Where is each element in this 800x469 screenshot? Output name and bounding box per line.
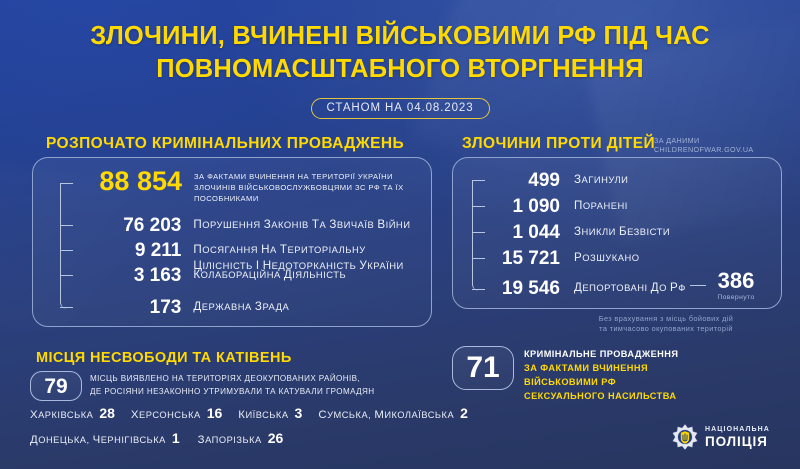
stat-row: 173 Державна зрада (76, 298, 416, 317)
detention-description-line-1: МІСЦЬ ВИЯВЛЕНО НА ТЕРИТОРІЯХ ДЕОКУПОВАНИ… (90, 373, 435, 386)
stat-label: ЗА ФАКТАМИ ВЧИНЕННЯ НА ТЕРИТОРІЇ УКРАЇНИ… (194, 170, 412, 204)
region-name: Запорізька (198, 434, 262, 446)
criminal-proceedings-heading: РОЗПОЧАТО КРИМІНАЛЬНИХ ПРОВАДЖЕНЬ (46, 135, 404, 153)
police-logo: НАЦІОНАЛЬНА ПОЛІЦІЯ (672, 424, 770, 450)
children-footnote: Без врахування з місць бойових дій та ти… (542, 314, 790, 334)
bracket-tick (60, 307, 73, 308)
stat-label: Порушення законів та звичаїв війни (193, 216, 416, 233)
detention-description-line-2: ДЕ РОСІЯНИ НЕЗАКОННО УТРИМУВАЛИ ТА КАТУВ… (90, 386, 435, 399)
bracket-tick (472, 180, 485, 181)
bracket-tick (60, 250, 73, 251)
criminal-proceedings-bracket (60, 183, 72, 309)
children-source-line-2: CHILDRENOFWAR.GOV.UA (654, 145, 754, 154)
detention-places-description: МІСЦЬ ВИЯВЛЕНО НА ТЕРИТОРІЯХ ДЕОКУПОВАНИ… (90, 373, 435, 398)
returned-value: 386 (708, 270, 764, 292)
sexual-violence-text: КРИМІНАЛЬНЕ ПРОВАДЖЕННЯ ЗА ФАКТАМИ ВЧИНЕ… (524, 348, 786, 404)
bracket-tick (472, 289, 485, 290)
stat-label: Загинули (574, 171, 764, 188)
bracket-tick (60, 275, 73, 276)
sexual-violence-line-2: ЗА ФАКТАМИ ВЧИНЕННЯ (524, 362, 786, 376)
region-item: Донецька, Чернігівська 1 (30, 430, 180, 446)
stat-row: 1 090 Поранені (488, 197, 778, 216)
returned-connector (690, 285, 706, 286)
region-value: 28 (99, 405, 115, 421)
region-value: 3 (295, 405, 303, 421)
stat-label: Розшукано (574, 249, 764, 266)
returned-block: 386 Повернуто (708, 270, 764, 301)
stat-value: 499 (488, 171, 560, 190)
detention-places-heading: МІСЦЯ НЕСВОБОДИ ТА КАТІВЕНЬ (36, 350, 292, 366)
stat-value: 3 163 (76, 266, 181, 285)
police-star-emblem-icon (672, 424, 698, 450)
region-item: Запорізька 26 (198, 430, 284, 446)
date-badge: СТАНОМ НА 04.08.2023 (311, 98, 490, 119)
returned-label: Повернуто (708, 294, 764, 301)
stat-label: Зникли безвісти (574, 223, 764, 240)
sexual-violence-badge-value: 71 (466, 353, 499, 383)
stat-value: 76 203 (76, 216, 181, 235)
detention-places-badge-value: 79 (44, 376, 67, 397)
bracket-tick (60, 225, 73, 226)
police-logo-top: НАЦІОНАЛЬНА (705, 426, 770, 433)
region-name: Херсонська (131, 409, 201, 421)
stat-value: 15 721 (488, 249, 560, 268)
police-logo-main: ПОЛІЦІЯ (705, 435, 770, 449)
children-bracket (472, 180, 484, 291)
region-item: Сумська, Миколаївська 2 (318, 405, 468, 421)
region-value: 1 (172, 430, 180, 446)
region-item: Харківська 28 (30, 405, 115, 421)
detention-places-badge: 79 (30, 371, 82, 401)
stat-row: 76 203 Порушення законів та звичаїв війн… (76, 216, 416, 235)
regions-row: Харківська 28 Херсонська 16 Київська 3 С… (30, 405, 450, 421)
regions-list: Харківська 28 Херсонська 16 Київська 3 С… (30, 405, 450, 446)
bracket-tick (472, 232, 485, 233)
stat-row: 88 854 ЗА ФАКТАМИ ВЧИНЕННЯ НА ТЕРИТОРІЇ … (76, 170, 416, 204)
stat-row: 3 163 Колабораційна діяльність (76, 266, 416, 285)
sexual-violence-line-4: СЕКСУАЛЬНОГО НАСИЛЬСТВА (524, 390, 786, 404)
region-name: Сумська, Миколаївська (318, 409, 454, 421)
stat-label: Поранені (574, 197, 764, 214)
stat-value: 1 090 (488, 197, 560, 216)
stat-value: 88 854 (76, 168, 182, 195)
infographic-page: ЗЛОЧИНИ, ВЧИНЕНІ ВІЙСЬКОВИМИ РФ ПІД ЧАС … (0, 0, 800, 469)
page-title-line-1: ЗЛОЧИНИ, ВЧИНЕНІ ВІЙСЬКОВИМИ РФ ПІД ЧАС (30, 20, 770, 53)
region-value: 16 (207, 405, 223, 421)
sexual-violence-line-1: КРИМІНАЛЬНЕ ПРОВАДЖЕННЯ (524, 348, 786, 362)
stat-row: 15 721 Розшукано (488, 249, 778, 268)
children-footnote-line-1: Без врахування з місць бойових дій (542, 314, 790, 324)
children-source-line-1: ЗА ДАНИМИ (654, 136, 754, 145)
bracket-tick (472, 258, 485, 259)
stat-value: 1 044 (488, 223, 560, 242)
region-name: Донецька, Чернігівська (30, 434, 166, 446)
stat-label: Державна зрада (193, 298, 416, 315)
police-logo-text: НАЦІОНАЛЬНА ПОЛІЦІЯ (705, 426, 770, 449)
region-item: Київська 3 (238, 405, 302, 421)
regions-row: Донецька, Чернігівська 1 Запорізька 26 (30, 430, 450, 446)
header: ЗЛОЧИНИ, ВЧИНЕНІ ВІЙСЬКОВИМИ РФ ПІД ЧАС … (0, 20, 800, 119)
stat-label: Депортовані до РФ (574, 279, 702, 296)
children-source-note: ЗА ДАНИМИ CHILDRENOFWAR.GOV.UA (654, 136, 754, 154)
stat-value: 9 211 (76, 241, 181, 260)
stat-row: 499 Загинули (488, 171, 778, 190)
region-name: Київська (238, 409, 288, 421)
bracket-tick (60, 183, 73, 184)
stat-row: 1 044 Зникли безвісти (488, 223, 778, 242)
page-title-line-2: ПОВНОМАСШТАБНОГО ВТОРГНЕННЯ (30, 53, 770, 86)
children-footnote-line-2: та тимчасово окупованих територій (542, 324, 790, 334)
stat-label: Колабораційна діяльність (193, 266, 416, 283)
sexual-violence-badge: 71 (452, 346, 514, 390)
region-name: Харківська (30, 409, 93, 421)
region-item: Херсонська 16 (131, 405, 222, 421)
bracket-tick (472, 206, 485, 207)
region-value: 2 (460, 405, 468, 421)
sexual-violence-line-3: ВІЙСЬКОВИМИ РФ (524, 376, 786, 390)
region-value: 26 (268, 430, 284, 446)
crimes-against-children-heading: ЗЛОЧИНИ ПРОТИ ДІТЕЙ (462, 135, 655, 153)
stat-value: 19 546 (488, 279, 560, 298)
page-title: ЗЛОЧИНИ, ВЧИНЕНІ ВІЙСЬКОВИМИ РФ ПІД ЧАС … (30, 20, 770, 86)
stat-value: 173 (76, 298, 181, 317)
